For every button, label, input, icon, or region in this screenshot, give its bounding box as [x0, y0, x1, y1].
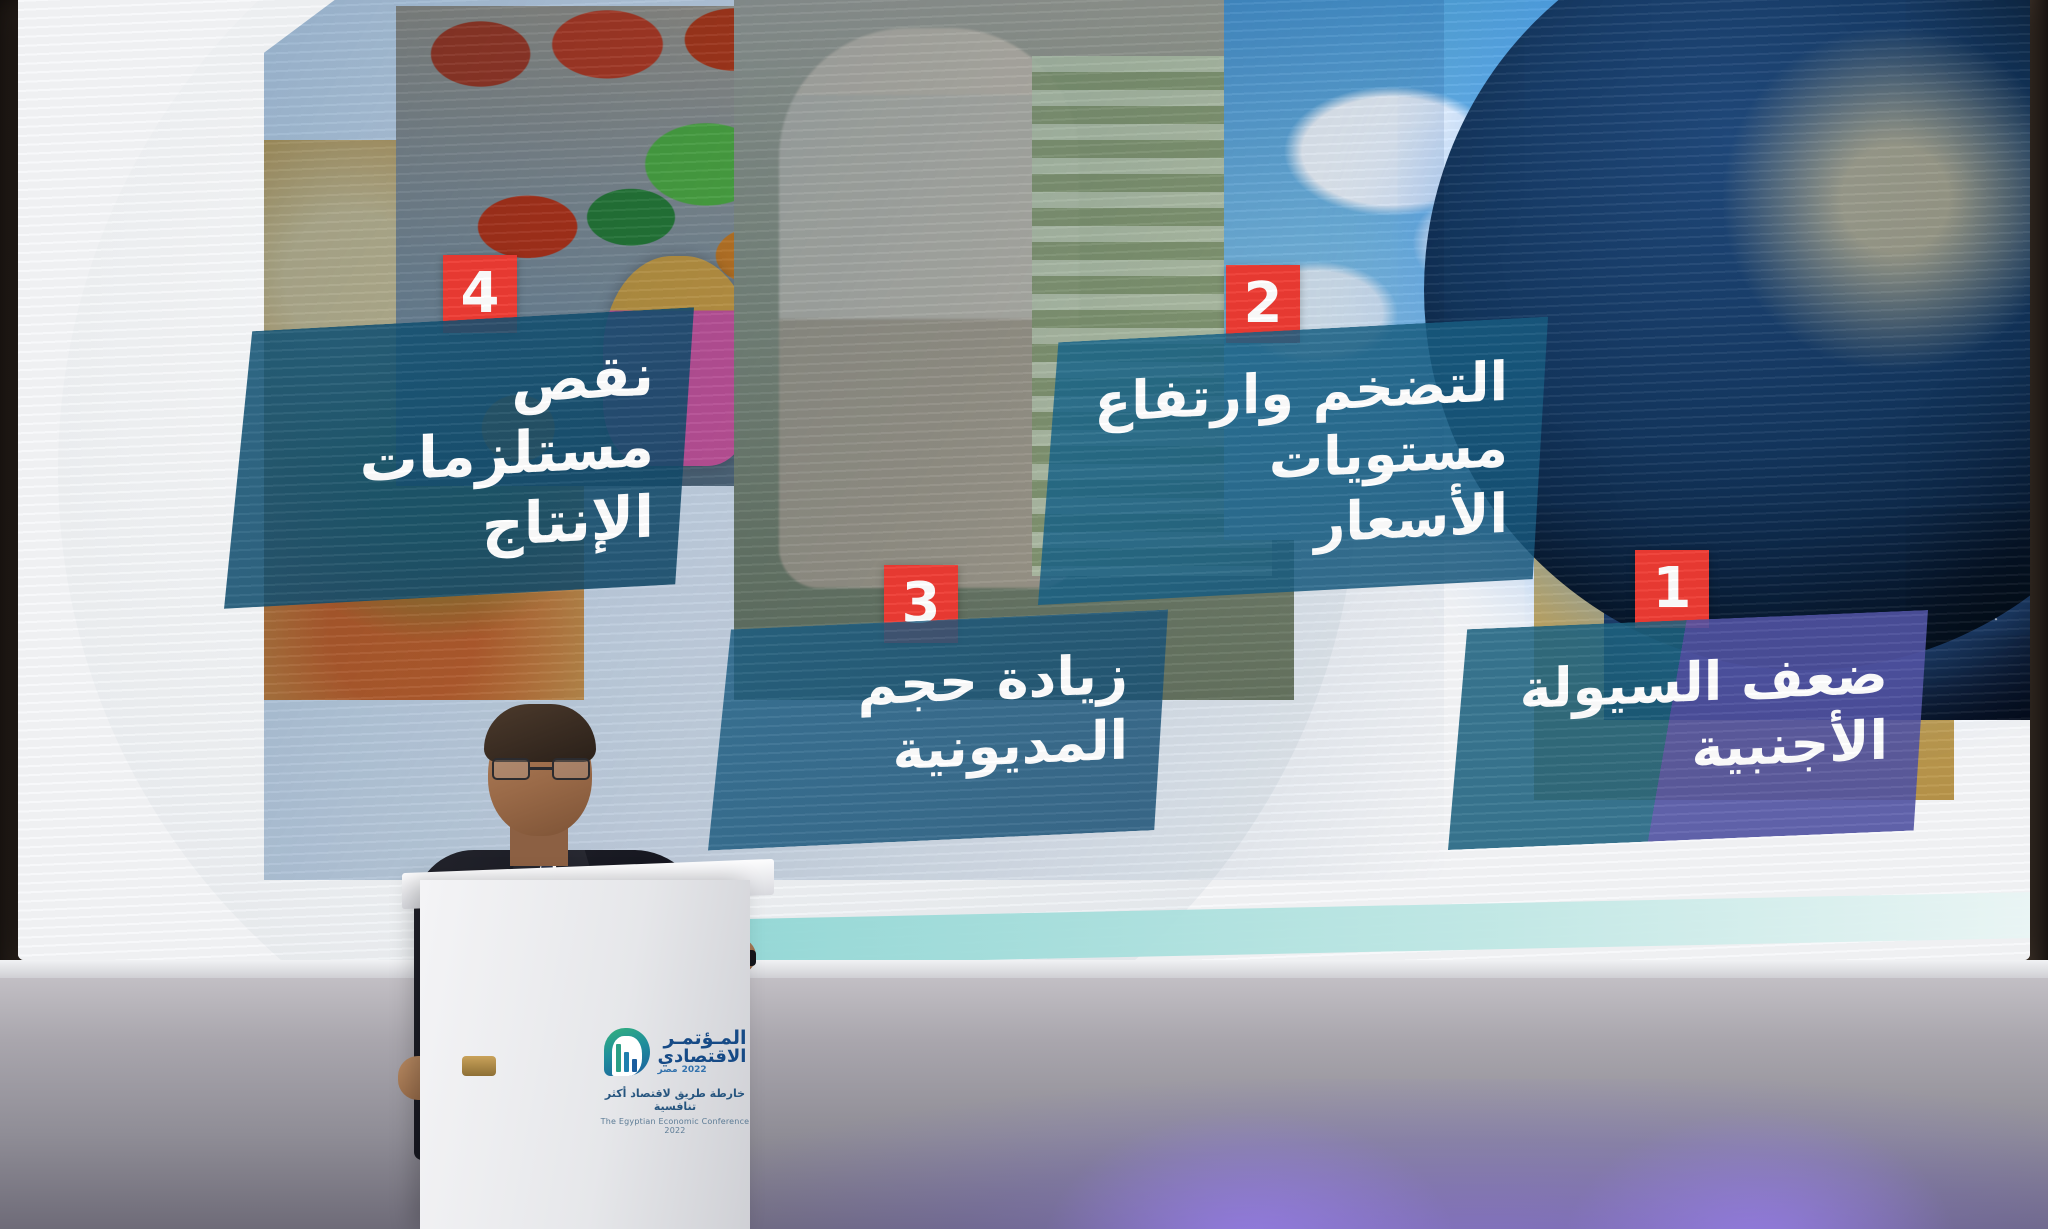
podium-mic-base	[462, 1056, 496, 1076]
podium-logo-year: 2022	[682, 1066, 707, 1075]
podium-leaf-chart-icon	[604, 1028, 650, 1076]
podium-logo-year-row: 2022 مصر	[658, 1066, 747, 1075]
podium-tagline-english: The Egyptian Economic Conference 2022	[600, 1117, 750, 1135]
podium-conference-logo: المـؤتمـر الاقتصادي 2022 مصر خارطة طريق …	[600, 1028, 750, 1198]
item-badge-1: 1	[1635, 550, 1709, 628]
item-panel-3: زيادة حجم المديونية	[708, 610, 1168, 851]
item-panel-4: نقص مستلزمات الإنتاج	[224, 307, 694, 609]
stage-scene: 4 2 3 1 نقص مستلزمات الإنتاج التضخم وارت…	[0, 0, 2048, 1229]
led-presentation-screen: 4 2 3 1 نقص مستلزمات الإنتاج التضخم وارت…	[18, 0, 2030, 960]
podium-logo-row: المـؤتمـر الاقتصادي 2022 مصر	[604, 1028, 747, 1076]
item-panel-2: التضخم وارتفاع مستويات الأسعار	[1038, 317, 1548, 605]
podium-tagline-arabic: خارطة طريق لاقتصاد أكثر تنافسية	[600, 1087, 750, 1113]
floor-light-pool-1	[1040, 1109, 1460, 1229]
podium-logo-country: مصر	[658, 1066, 678, 1075]
item-4-line-1: نقص مستلزمات	[276, 339, 654, 501]
item-panel-1: ضعف السيولة الأجنبية	[1448, 610, 1928, 850]
podium-logo-text: المـؤتمـر الاقتصادي 2022 مصر	[658, 1029, 747, 1076]
floor-light-pool-2	[1560, 1109, 1960, 1229]
speaker-hair	[484, 704, 596, 762]
item-2-line-2: مستويات الأسعار	[1090, 415, 1508, 569]
podium-logo-line-2: الاقتصادي	[658, 1048, 747, 1066]
speaker-glasses-icon	[492, 758, 590, 780]
